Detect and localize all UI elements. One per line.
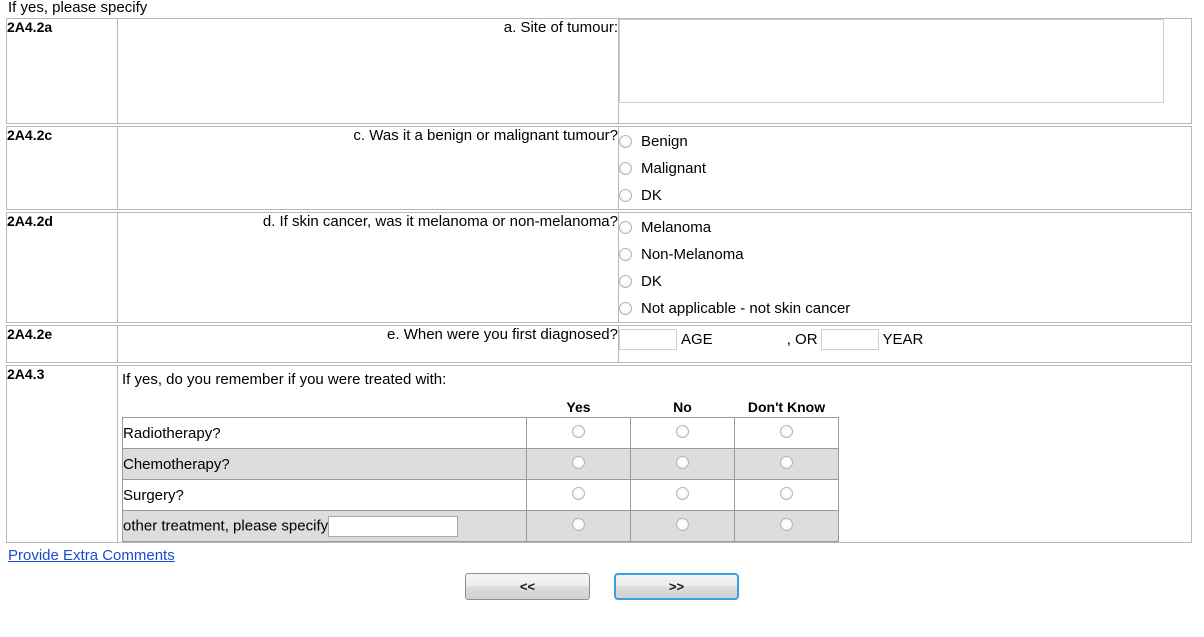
question-row-2a4-2e: 2A4.2e e. When were you first diagnosed?… — [6, 325, 1192, 363]
treatment-cell-yes[interactable] — [527, 449, 631, 480]
radio-option[interactable]: Benign — [619, 128, 1191, 155]
radio-button-icon[interactable] — [572, 487, 585, 500]
radio-button-icon[interactable] — [780, 487, 793, 500]
table-row: Chemotherapy? — [123, 449, 839, 480]
treatment-name-other: other treatment, please specify — [123, 511, 527, 542]
table-row: Radiotherapy? — [123, 418, 839, 449]
radio-option[interactable]: Malignant — [619, 155, 1191, 182]
section-heading: If yes, please specify — [6, 0, 1198, 18]
question-label: c. Was it a benign or malignant tumour? — [118, 127, 619, 210]
question-label: a. Site of tumour: — [118, 19, 619, 124]
treatment-cell-dont-know[interactable] — [735, 418, 839, 449]
table-row: Surgery? — [123, 480, 839, 511]
treatment-cell-dont-know[interactable] — [735, 480, 839, 511]
treatment-field: If yes, do you remember if you were trea… — [118, 366, 1192, 543]
radio-button-icon[interactable] — [619, 135, 632, 148]
radio-group-benign-malignant: Benign Malignant DK — [619, 127, 1191, 209]
question-label: d. If skin cancer, was it melanoma or no… — [118, 213, 619, 323]
table-row: other treatment, please specify — [123, 511, 839, 542]
radio-button-icon[interactable] — [572, 518, 585, 531]
question-field — [619, 19, 1192, 124]
treatment-cell-dont-know[interactable] — [735, 449, 839, 480]
question-code: 2A4.2a — [7, 19, 118, 124]
age-label: AGE — [677, 331, 713, 348]
radio-button-icon[interactable] — [572, 425, 585, 438]
questionnaire-page: If yes, please specify 2A4.2a a. Site of… — [0, 0, 1204, 600]
treatment-name: Chemotherapy? — [123, 449, 527, 480]
question-row-2a4-3: 2A4.3 If yes, do you remember if you wer… — [6, 365, 1192, 543]
question-field: Melanoma Non-Melanoma DK Not applicable … — [619, 213, 1192, 323]
radio-option[interactable]: Non-Melanoma — [619, 241, 1191, 268]
provide-extra-comments-link[interactable]: Provide Extra Comments — [6, 545, 175, 564]
treatment-cell-no[interactable] — [631, 449, 735, 480]
question-code: 2A4.2c — [7, 127, 118, 210]
question-code: 2A4.2d — [7, 213, 118, 323]
question-label: e. When were you first diagnosed? — [118, 326, 619, 363]
treatment-intro: If yes, do you remember if you were trea… — [122, 371, 1191, 393]
radio-button-icon[interactable] — [676, 425, 689, 438]
treatment-header-row: Yes No Don't Know — [123, 393, 839, 418]
radio-button-icon[interactable] — [619, 189, 632, 202]
radio-option[interactable]: DK — [619, 182, 1191, 209]
treatment-cell-no[interactable] — [631, 511, 735, 542]
question-field: AGE , OR YEAR — [619, 326, 1192, 363]
treatment-cell-no[interactable] — [631, 418, 735, 449]
year-input[interactable] — [821, 329, 879, 350]
treatment-header-no: No — [631, 393, 735, 418]
radio-label: DK — [641, 188, 662, 204]
treatment-header-blank — [123, 393, 527, 418]
radio-label: DK — [641, 274, 662, 290]
treatment-header-yes: Yes — [527, 393, 631, 418]
radio-button-icon[interactable] — [780, 425, 793, 438]
radio-button-icon[interactable] — [780, 456, 793, 469]
radio-label: Non-Melanoma — [641, 247, 744, 263]
other-treatment-label: other treatment, please specify — [123, 517, 328, 534]
radio-button-icon[interactable] — [676, 518, 689, 531]
treatment-header-dont-know: Don't Know — [735, 393, 839, 418]
radio-button-icon[interactable] — [619, 221, 632, 234]
radio-label: Not applicable - not skin cancer — [641, 301, 850, 317]
radio-label: Benign — [641, 134, 688, 150]
question-row-2a4-2a: 2A4.2a a. Site of tumour: — [6, 18, 1192, 124]
treatment-cell-yes[interactable] — [527, 480, 631, 511]
treatment-cell-yes[interactable] — [527, 511, 631, 542]
question-code: 2A4.2e — [7, 326, 118, 363]
or-separator: , OR — [713, 331, 821, 348]
treatment-name: Surgery? — [123, 480, 527, 511]
radio-button-icon[interactable] — [780, 518, 793, 531]
radio-button-icon[interactable] — [676, 456, 689, 469]
radio-group-melanoma: Melanoma Non-Melanoma DK Not applicable … — [619, 213, 1191, 322]
radio-button-icon[interactable] — [619, 162, 632, 175]
radio-button-icon[interactable] — [676, 487, 689, 500]
age-or-year-row: AGE , OR YEAR — [619, 326, 1191, 352]
question-code: 2A4.3 — [7, 366, 118, 543]
radio-button-icon[interactable] — [619, 275, 632, 288]
question-row-2a4-2c: 2A4.2c c. Was it a benign or malignant t… — [6, 126, 1192, 210]
site-of-tumour-textarea[interactable] — [619, 19, 1164, 103]
radio-button-icon[interactable] — [619, 248, 632, 261]
navigation-bar: << >> — [6, 564, 1198, 600]
radio-label: Malignant — [641, 161, 706, 177]
radio-label: Melanoma — [641, 220, 711, 236]
question-row-2a4-2d: 2A4.2d d. If skin cancer, was it melanom… — [6, 212, 1192, 323]
treatment-table: Yes No Don't Know Radiotherapy? Chemothe… — [122, 393, 839, 542]
radio-button-icon[interactable] — [572, 456, 585, 469]
previous-page-button[interactable]: << — [465, 573, 590, 600]
treatment-cell-no[interactable] — [631, 480, 735, 511]
radio-option[interactable]: Melanoma — [619, 214, 1191, 241]
year-label: YEAR — [879, 331, 924, 348]
next-page-button[interactable]: >> — [614, 573, 739, 600]
other-treatment-input[interactable] — [328, 516, 458, 537]
treatment-name: Radiotherapy? — [123, 418, 527, 449]
radio-option[interactable]: Not applicable - not skin cancer — [619, 295, 1191, 322]
question-field: Benign Malignant DK — [619, 127, 1192, 210]
treatment-cell-dont-know[interactable] — [735, 511, 839, 542]
treatment-cell-yes[interactable] — [527, 418, 631, 449]
treatment-block: If yes, do you remember if you were trea… — [118, 366, 1191, 542]
radio-button-icon[interactable] — [619, 302, 632, 315]
radio-option[interactable]: DK — [619, 268, 1191, 295]
age-input[interactable] — [619, 329, 677, 350]
